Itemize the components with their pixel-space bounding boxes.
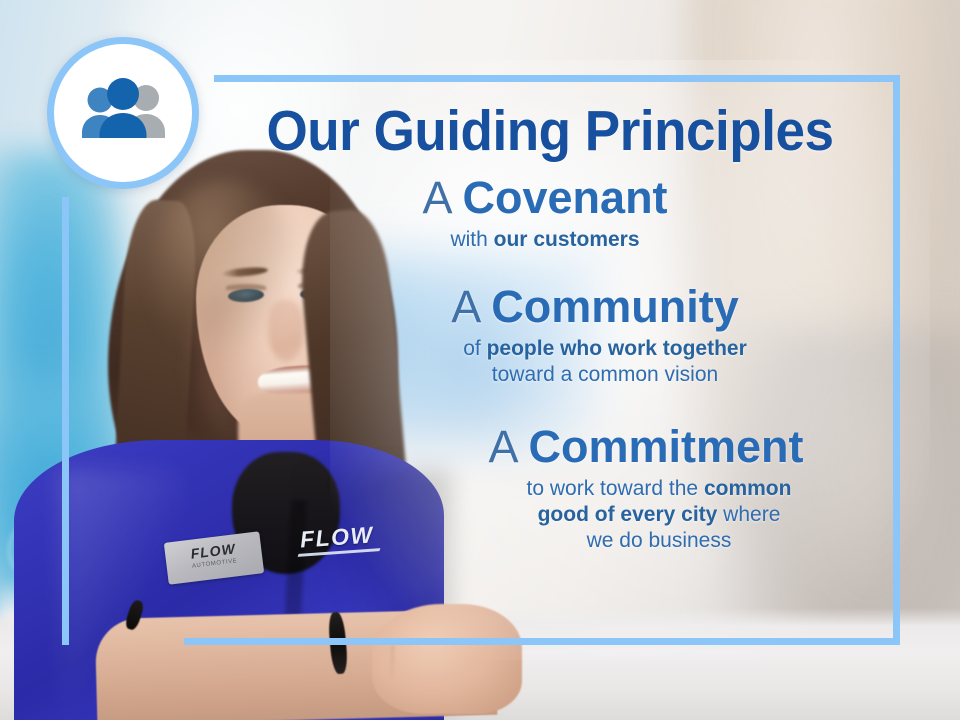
- principle-1-detail: with our customers: [210, 227, 880, 253]
- principle-3-keyword: Commitment: [529, 421, 804, 472]
- principles-content: Our Guiding Principles A Covenant with o…: [180, 80, 880, 555]
- principle-1-article: A: [422, 172, 450, 223]
- principle-3-article: A: [488, 421, 516, 472]
- principle-1-detail-bold: our customers: [494, 228, 640, 251]
- principle-2-detail: of people who work together toward a com…: [330, 336, 880, 389]
- finger-detail: [392, 628, 510, 698]
- principle-3-line2-bold: good of every city: [538, 503, 718, 526]
- principle-1-keyword: Covenant: [463, 172, 668, 223]
- principle-3-line1-bold: common: [704, 477, 792, 500]
- principle-3-line3: we do business: [587, 529, 732, 552]
- principle-2-detail-tail: toward a common vision: [492, 363, 718, 386]
- principle-3-detail: to work toward the common good of every …: [438, 476, 880, 555]
- principle-2-detail-bold: people who work together: [487, 337, 747, 360]
- principle-3-line1-lead: to work toward the: [527, 477, 699, 500]
- principle-2-heading: A Community: [310, 283, 880, 331]
- guiding-principles-banner: FLOW AUTOMOTIVE FLOW: [0, 0, 960, 720]
- people-group-icon: [75, 76, 171, 150]
- principle-3-heading: A Commitment: [412, 423, 880, 471]
- page-title: Our Guiding Principles: [243, 102, 857, 160]
- principle-3-line2-tail: where: [723, 503, 780, 526]
- principle-2-keyword: Community: [491, 281, 739, 332]
- principle-covenant: A Covenant with our customers: [210, 174, 880, 253]
- principle-2-detail-lead: of: [463, 337, 481, 360]
- people-group-icon-badge: [47, 37, 199, 189]
- principle-commitment: A Commitment to work toward the common g…: [412, 423, 880, 555]
- principle-2-article: A: [451, 281, 479, 332]
- principle-1-heading: A Covenant: [210, 174, 880, 222]
- principle-community: A Community of people who work together …: [310, 283, 880, 389]
- principle-1-detail-lead: with: [450, 228, 487, 251]
